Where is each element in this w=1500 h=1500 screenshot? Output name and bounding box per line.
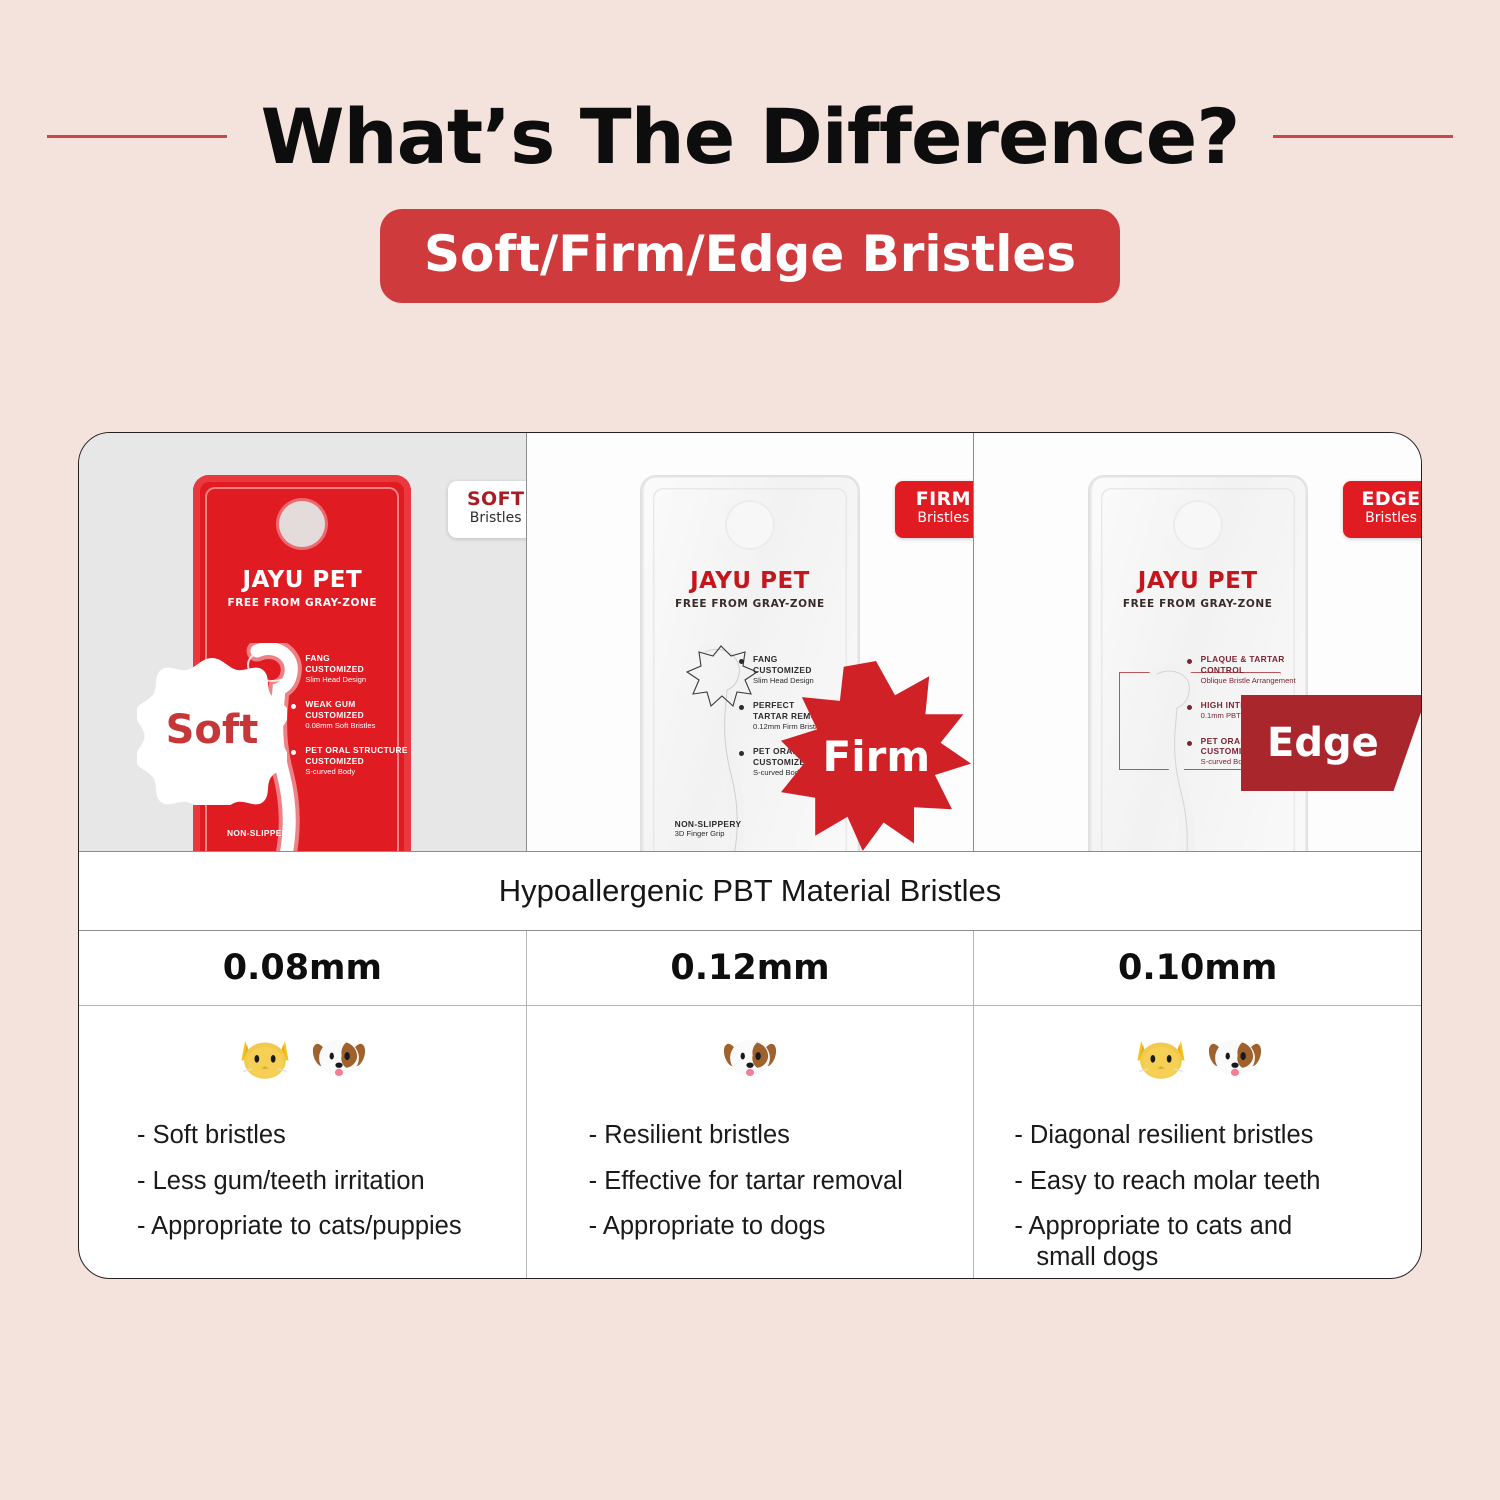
spec-cell-firm: 0.12mm xyxy=(526,931,974,1005)
brand-tagline: FREE FROM GRAY-ZONE xyxy=(1089,598,1307,610)
brand-name: JAYU PET xyxy=(1089,568,1307,594)
callout: WEAK GUM CUSTOMIZED 0.08mm Soft Bristles xyxy=(305,699,425,730)
callout-sub: 0.08mm Soft Bristles xyxy=(305,721,425,731)
callout-sub: S-curved Body xyxy=(305,767,425,777)
detail-cell-soft: - Soft bristles - Less gum/teeth irritat… xyxy=(79,1006,526,1278)
product-cell-edge[interactable]: JAYU PET FREE FROM GRAY-ZONE PLAQUE & TA… xyxy=(973,433,1421,851)
tab-badge-firm[interactable]: FIRM Bristles xyxy=(895,481,973,538)
callout: PLAQUE & TARTAR CONTROL Oblique Bristle … xyxy=(1201,654,1321,685)
title-rule-right xyxy=(1273,135,1453,138)
callout-sub: 3D Finger Grip xyxy=(675,829,785,839)
list-item-line1: - Appropriate to cats and xyxy=(1014,1212,1292,1240)
subtitle-pill-wrap: Soft/Firm/Edge Bristles xyxy=(0,209,1500,303)
callout-dot xyxy=(1187,741,1192,746)
title-rule-left xyxy=(47,135,227,138)
callout-line1: FANG xyxy=(305,653,425,664)
callout-list-soft: FANG CUSTOMIZED Slim Head Design WEAK GU… xyxy=(305,653,425,792)
subtitle-pill: Soft/Firm/Edge Bristles xyxy=(380,209,1120,303)
tab-badge-edge[interactable]: EDGE Bristles xyxy=(1343,481,1421,538)
spec-value: 0.12mm xyxy=(670,948,829,988)
product-image-row: JAYU PET FREE FROM GRAY-ZONE FANG CUSTOM… xyxy=(79,433,1421,852)
comparison-card: JAYU PET FREE FROM GRAY-ZONE FANG CUSTOM… xyxy=(78,432,1422,1279)
callout-sub: Slim Head Design xyxy=(305,675,425,685)
callout-dot xyxy=(739,659,744,664)
cat-emoji xyxy=(1132,1028,1190,1086)
badge-label: Edge xyxy=(1241,720,1379,766)
bullet-list: - Soft bristles - Less gum/teeth irritat… xyxy=(79,1102,526,1242)
tab-title: SOFT xyxy=(448,490,526,510)
spec-cell-soft: 0.08mm xyxy=(79,931,526,1005)
callout-line2: CONTROL xyxy=(1201,665,1321,676)
dog-emoji xyxy=(1206,1028,1264,1086)
list-item: - Soft bristles xyxy=(137,1120,526,1151)
cat-emoji xyxy=(236,1028,294,1086)
list-item: - Appropriate to cats and small dogs xyxy=(1014,1211,1421,1272)
badge-soft: Soft xyxy=(137,655,287,805)
callout-line1: PLAQUE & TARTAR xyxy=(1201,654,1321,665)
bullet-list: - Diagonal resilient bristles - Easy to … xyxy=(974,1102,1421,1272)
brand-name: JAYU PET xyxy=(193,567,411,593)
badge-firm: Firm xyxy=(781,661,971,851)
spec-cell-edge: 0.10mm xyxy=(973,931,1421,1005)
hang-hole xyxy=(279,501,325,547)
list-item: - Diagonal resilient bristles xyxy=(1014,1120,1421,1151)
list-item: - Resilient bristles xyxy=(589,1120,974,1151)
tab-subtitle: Bristles xyxy=(448,510,526,528)
tab-badge-soft[interactable]: SOFT Bristles xyxy=(448,481,526,538)
list-item: - Appropriate to cats/puppies xyxy=(137,1211,526,1242)
page-title: What’s The Difference? xyxy=(261,92,1240,181)
list-item: - Appropriate to dogs xyxy=(589,1211,974,1242)
brand-tagline: FREE FROM GRAY-ZONE xyxy=(193,597,411,609)
bullet-list: - Resilient bristles - Effective for tar… xyxy=(527,1102,974,1242)
spec-row: 0.08mm 0.12mm 0.10mm xyxy=(79,931,1421,1006)
pet-emoji-row xyxy=(79,1028,526,1102)
product-cell-firm[interactable]: JAYU PET FREE FROM GRAY-ZONE FANG CUSTOM… xyxy=(526,433,974,851)
pet-emoji-row xyxy=(527,1028,974,1102)
callout-line1: NON-SLIPPERY xyxy=(227,828,337,839)
list-item: - Effective for tartar removal xyxy=(589,1166,974,1197)
list-item: - Less gum/teeth irritation xyxy=(137,1166,526,1197)
list-item: - Easy to reach molar teeth xyxy=(1014,1166,1421,1197)
detail-row: - Soft bristles - Less gum/teeth irritat… xyxy=(79,1006,1421,1278)
badge-label: Firm xyxy=(781,661,971,851)
dog-emoji xyxy=(721,1028,779,1086)
callout-line2: CUSTOMIZED xyxy=(305,664,425,675)
spec-value: 0.10mm xyxy=(1118,948,1277,988)
badge-edge: Edge xyxy=(1241,695,1421,791)
material-label: Hypoallergenic PBT Material Bristles xyxy=(499,873,1002,909)
spec-value: 0.08mm xyxy=(223,948,382,988)
tab-title: FIRM xyxy=(895,490,973,510)
callout-line2: CUSTOMIZED xyxy=(305,756,425,767)
package-edge: JAYU PET FREE FROM GRAY-ZONE PLAQUE & TA… xyxy=(1088,475,1308,851)
callout-line1: NON-SLIPPERY xyxy=(675,819,785,830)
callout-line2: CUSTOMIZED xyxy=(305,710,425,721)
callout-line1: PET ORAL STRUCTURE xyxy=(305,745,425,756)
product-cell-soft[interactable]: JAYU PET FREE FROM GRAY-ZONE FANG CUSTOM… xyxy=(79,433,526,851)
badge-label: Soft xyxy=(137,655,287,805)
pet-emoji-row xyxy=(974,1028,1421,1102)
dog-emoji xyxy=(310,1028,368,1086)
bottom-callout-soft: NON-SLIPPERY xyxy=(227,828,337,839)
detail-cell-edge: - Diagonal resilient bristles - Easy to … xyxy=(973,1006,1421,1278)
hang-hole xyxy=(1175,502,1221,548)
list-item-line2: small dogs xyxy=(1014,1242,1421,1273)
tab-subtitle: Bristles xyxy=(895,510,973,528)
tab-title: EDGE xyxy=(1343,490,1421,510)
callout-dot xyxy=(1187,659,1192,664)
detail-cell-firm: - Resilient bristles - Effective for tar… xyxy=(526,1006,974,1278)
callout: FANG CUSTOMIZED Slim Head Design xyxy=(305,653,425,684)
tab-subtitle: Bristles xyxy=(1343,510,1421,528)
hang-hole xyxy=(727,502,773,548)
page-header: What’s The Difference? Soft/Firm/Edge Br… xyxy=(0,0,1500,303)
brand-tagline: FREE FROM GRAY-ZONE xyxy=(641,598,859,610)
title-row: What’s The Difference? xyxy=(0,92,1500,181)
callout-line1: WEAK GUM xyxy=(305,699,425,710)
bottom-callout-firm: NON-SLIPPERY 3D Finger Grip xyxy=(675,819,785,839)
material-row: Hypoallergenic PBT Material Bristles xyxy=(79,852,1421,931)
callout: PET ORAL STRUCTURE CUSTOMIZED S-curved B… xyxy=(305,745,425,776)
callout-sub: Oblique Bristle Arrangement xyxy=(1201,676,1321,686)
callout-dot xyxy=(291,658,296,663)
brand-name: JAYU PET xyxy=(641,568,859,594)
